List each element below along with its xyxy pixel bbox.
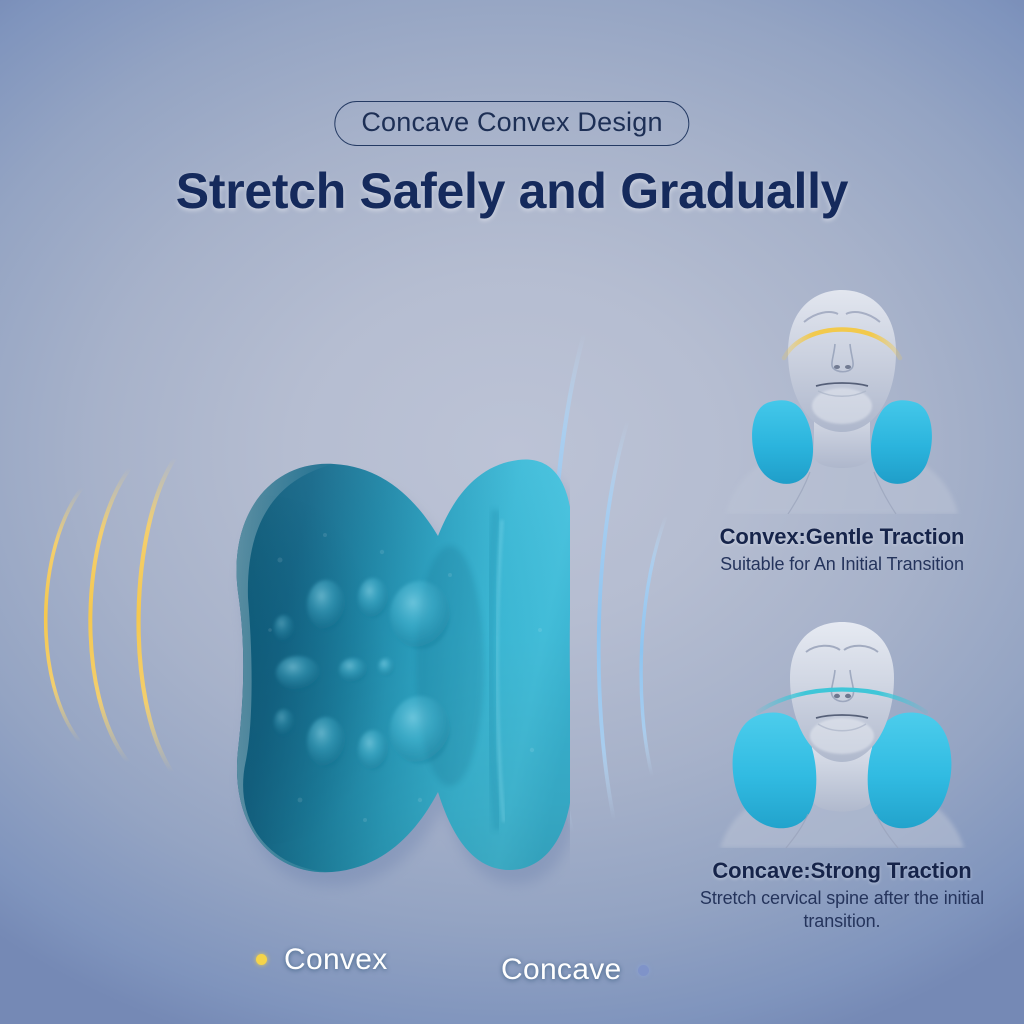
feature-item-convex: Convex:Gentle Traction Suitable for An I… [672, 286, 1012, 576]
feature-list: Convex:Gentle Traction Suitable for An I… [672, 286, 1012, 926]
feature-subtitle-concave: Stretch cervical spine after the initial… [672, 887, 1012, 932]
design-badge: Concave Convex Design [334, 101, 689, 146]
concave-marker-dot [638, 965, 649, 976]
product-illustration: Convex Concave [0, 300, 680, 940]
concave-label: Concave [501, 955, 622, 985]
feature-title-convex: Convex:Gentle Traction [672, 524, 1012, 549]
convex-usage-illustration [692, 286, 992, 514]
cervical-pillow: Convex Concave [120, 330, 570, 910]
feature-item-concave: Concave:Strong Traction Stretch cervical… [672, 620, 1012, 932]
page-title: Stretch Safely and Gradually [176, 166, 848, 216]
convex-label: Convex [284, 945, 388, 975]
feature-subtitle-convex: Suitable for An Initial Transition [672, 553, 1012, 576]
convex-marker-dot [256, 954, 267, 965]
feature-title-concave: Concave:Strong Traction [672, 858, 1012, 883]
concave-usage-illustration [692, 620, 992, 848]
infographic-canvas: Concave Convex Design Stretch Safely and… [0, 0, 1024, 1024]
